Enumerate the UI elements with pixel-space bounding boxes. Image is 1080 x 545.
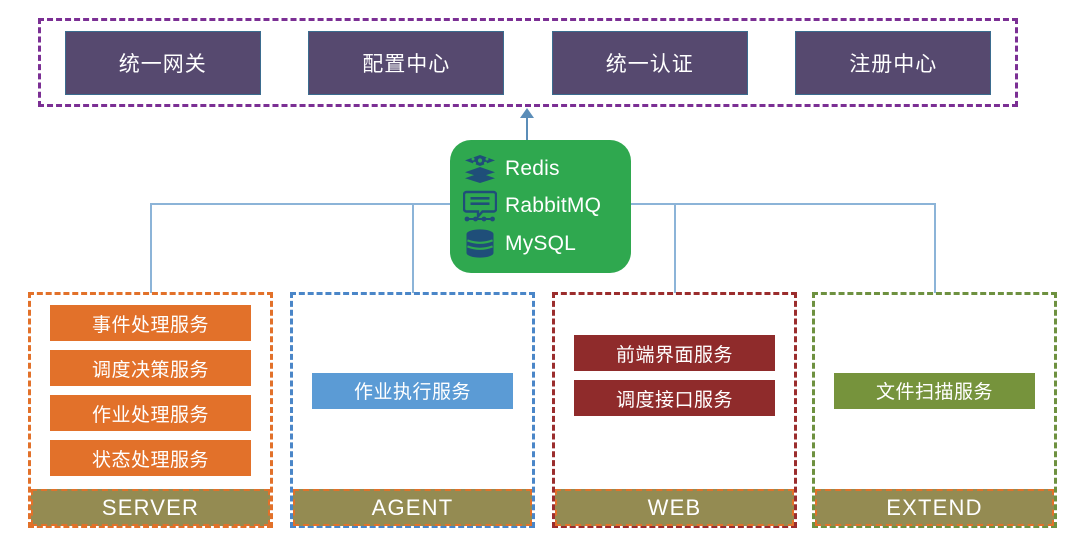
module-column-server: 事件处理服务 调度决策服务 作业处理服务 状态处理服务 SERVER <box>28 292 273 528</box>
module-footer-web: WEB <box>555 489 794 526</box>
module-column-web: 前端界面服务 调度接口服务 WEB <box>552 292 797 528</box>
module-services-server: 事件处理服务 调度决策服务 作业处理服务 状态处理服务 <box>28 292 273 489</box>
module-footer-label: EXTEND <box>886 495 982 521</box>
middleware-item-mysql[interactable]: MySQL <box>462 226 631 262</box>
rabbitmq-message-icon <box>462 189 498 223</box>
service-label: 事件处理服务 <box>92 310 209 337</box>
service-label: 文件扫描服务 <box>876 377 993 404</box>
connector-drop-agent <box>412 203 414 293</box>
module-footer-label: WEB <box>648 495 702 521</box>
module-services-extend: 文件扫描服务 <box>812 292 1057 489</box>
service-label: 作业处理服务 <box>92 400 209 427</box>
middleware-item-rabbitmq[interactable]: RabbitMQ <box>462 188 631 224</box>
service-box[interactable]: 作业处理服务 <box>50 395 251 431</box>
module-column-agent: 作业执行服务 AGENT <box>290 292 535 528</box>
platform-layer-group: 统一网关 配置中心 统一认证 注册中心 <box>38 18 1018 107</box>
connector-drop-extend <box>934 203 936 293</box>
connector-drop-web <box>674 203 676 293</box>
module-services-agent: 作业执行服务 <box>290 292 535 489</box>
service-box[interactable]: 作业执行服务 <box>312 373 513 409</box>
connector-bus-left <box>150 203 452 205</box>
platform-card-config[interactable]: 配置中心 <box>308 31 504 95</box>
platform-card-auth[interactable]: 统一认证 <box>552 31 748 95</box>
platform-card-label: 统一认证 <box>606 48 694 78</box>
module-footer-agent: AGENT <box>293 489 532 526</box>
service-box[interactable]: 调度决策服务 <box>50 350 251 386</box>
connector-drop-server <box>150 203 152 293</box>
platform-card-gateway[interactable]: 统一网关 <box>65 31 261 95</box>
service-box[interactable]: 状态处理服务 <box>50 440 251 476</box>
module-footer-server: SERVER <box>31 489 270 526</box>
mysql-database-icon <box>462 227 498 261</box>
module-footer-label: SERVER <box>102 495 199 521</box>
service-box[interactable]: 文件扫描服务 <box>834 373 1035 409</box>
connector-middleware-to-platform <box>526 116 528 142</box>
module-footer-extend: EXTEND <box>815 489 1054 526</box>
service-box[interactable]: 前端界面服务 <box>574 335 775 371</box>
middleware-item-label: RabbitMQ <box>505 194 601 218</box>
service-label: 状态处理服务 <box>92 445 209 472</box>
module-column-extend: 文件扫描服务 EXTEND <box>812 292 1057 528</box>
service-label: 前端界面服务 <box>616 340 733 367</box>
module-services-web: 前端界面服务 调度接口服务 <box>552 292 797 489</box>
platform-card-label: 统一网关 <box>119 48 207 78</box>
middleware-item-label: MySQL <box>505 232 576 256</box>
service-label: 调度决策服务 <box>92 355 209 382</box>
service-box[interactable]: 事件处理服务 <box>50 305 251 341</box>
module-footer-label: AGENT <box>372 495 454 521</box>
platform-card-label: 配置中心 <box>362 48 450 78</box>
platform-card-label: 注册中心 <box>849 48 937 78</box>
service-label: 调度接口服务 <box>616 385 733 412</box>
middleware-stack[interactable]: Redis <box>450 140 631 273</box>
service-label: 作业执行服务 <box>354 377 471 404</box>
redis-layers-icon <box>462 152 498 186</box>
architecture-diagram: 统一网关 配置中心 统一认证 注册中心 <box>0 0 1080 545</box>
platform-card-registry[interactable]: 注册中心 <box>795 31 991 95</box>
service-box[interactable]: 调度接口服务 <box>574 380 775 416</box>
middleware-item-redis[interactable]: Redis <box>462 151 631 187</box>
middleware-item-label: Redis <box>505 157 560 181</box>
